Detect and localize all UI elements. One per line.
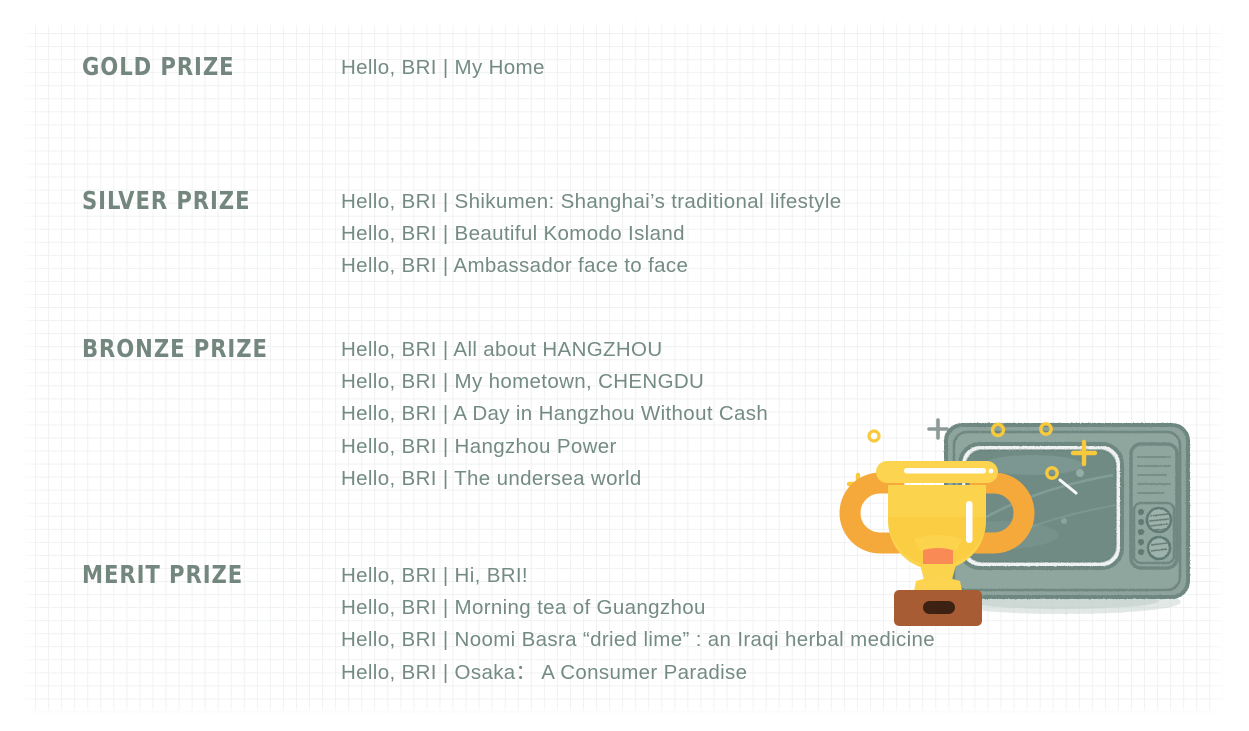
prize-entries-silver: Hello, BRI | Shikumen: Shanghai’s tradit… [341,186,842,283]
prize-heading-bronze: BRONZE PRIZE [82,334,268,364]
prize-entry: Hello, BRI | Hangzhou Power [341,431,768,463]
prize-entry: Hello, BRI | All about HANGZHOU [341,334,768,366]
prize-heading-merit: MERIT PRIZE [82,560,243,590]
prize-entries-bronze: Hello, BRI | All about HANGZHOU Hello, B… [341,334,768,495]
prize-entries-gold: Hello, BRI | My Home [341,52,545,84]
prize-entry: Hello, BRI | Beautiful Komodo Island [341,218,842,250]
slide-canvas: GOLD PRIZE Hello, BRI | My Home SILVER P… [0,0,1249,731]
prize-entry: Hello, BRI | Shikumen: Shanghai’s tradit… [341,186,842,218]
prize-entry: Hello, BRI | Hi, BRI! [341,560,935,592]
prize-heading-gold: GOLD PRIZE [82,52,235,82]
prize-entry: Hello, BRI | A Day in Hangzhou Without C… [341,398,768,430]
prize-entry: Hello, BRI | My hometown, CHENGDU [341,366,768,398]
prize-entry: Hello, BRI | Noomi Basra “dried lime” : … [341,624,935,656]
prize-entry: Hello, BRI | Morning tea of Guangzhou [341,592,935,624]
prize-heading-silver: SILVER PRIZE [82,186,250,216]
prize-entries-merit: Hello, BRI | Hi, BRI! Hello, BRI | Morni… [341,560,935,689]
prize-entry: Hello, BRI | The undersea world [341,463,768,495]
prize-entry: Hello, BRI | Osaka： A Consumer Paradise [341,657,935,689]
prize-entry: Hello, BRI | Ambassador face to face [341,250,842,282]
prize-list-content: GOLD PRIZE Hello, BRI | My Home SILVER P… [0,0,1249,731]
prize-entry: Hello, BRI | My Home [341,52,545,84]
